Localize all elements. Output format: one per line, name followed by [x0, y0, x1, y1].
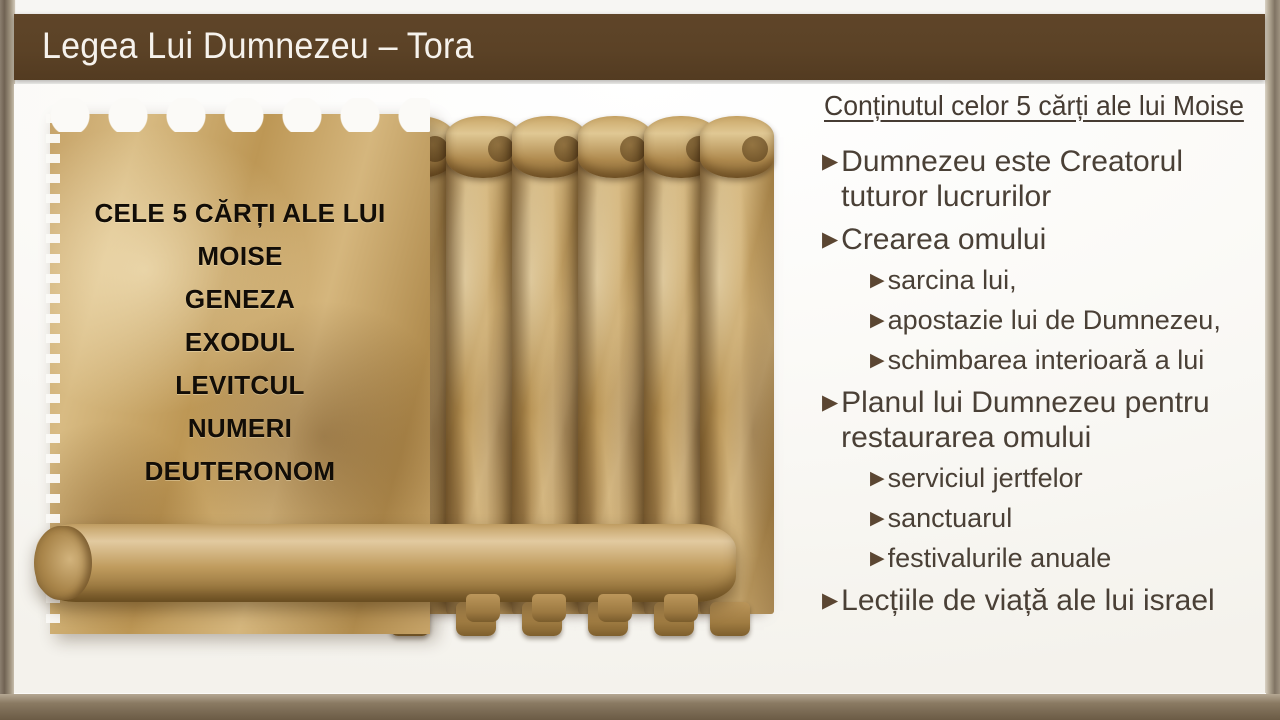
bullet-list: ▶ Dumnezeu este Creatorul tuturor lucrur…: [822, 136, 1264, 620]
bullet-triangle-icon: ▶: [870, 351, 885, 370]
scroll-text-line: LEVITCUL: [50, 364, 430, 407]
scroll-bottom-tab: [598, 594, 632, 622]
list-item: ▶ Crearea omului: [822, 222, 1264, 257]
frame-bottom-edge: [0, 694, 1280, 720]
list-item-label: Planul lui Dumnezeu pentru restaurarea o…: [838, 385, 1264, 455]
scroll-text-line: EXODUL: [50, 321, 430, 364]
bullet-triangle-icon: ▶: [870, 311, 885, 330]
list-item: ▶ Planul lui Dumnezeu pentru restaurarea…: [822, 385, 1264, 455]
scroll-bottom-tab: [532, 594, 566, 622]
bullet-triangle-icon: ▶: [870, 271, 885, 290]
list-item-label: serviciul jertfelor: [885, 462, 1264, 495]
scroll-text-line: DEUTERONOM: [50, 450, 430, 493]
scroll-text-line: GENEZA: [50, 278, 430, 321]
list-item-label: Lecțiile de viață ale lui israel: [838, 583, 1264, 618]
scroll-roll-top-cap: [446, 116, 520, 178]
slide-content-area: CELE 5 CĂRȚI ALE LUI MOISE GENEZA EXODUL…: [14, 84, 1265, 696]
scroll-roll-top-cap: [578, 116, 652, 178]
list-item: ▶ schimbarea interioară a lui: [870, 344, 1264, 377]
scroll-text-line: MOISE: [50, 235, 430, 278]
slide-header-bar: Legea Lui Dumnezeu – Tora: [14, 14, 1265, 80]
bullet-triangle-icon: ▶: [822, 151, 838, 172]
list-item: ▶ serviciul jertfelor: [870, 462, 1264, 495]
scroll-roll-top-cap: [700, 116, 774, 178]
list-item-label: Crearea omului: [838, 222, 1264, 257]
bullet-triangle-icon: ▶: [822, 392, 838, 413]
list-item: ▶ sarcina lui,: [870, 264, 1264, 297]
list-item: ▶ sanctuarul: [870, 502, 1264, 535]
content-list-pane: Conținutul celor 5 cărți ale lui Moise ▶…: [810, 84, 1265, 696]
scroll-bottom-tab: [664, 594, 698, 622]
frame-right-edge: [1265, 0, 1280, 720]
list-item-label: sarcina lui,: [885, 264, 1264, 297]
list-item-label: schimbarea interioară a lui: [885, 344, 1264, 377]
slide-canvas: Legea Lui Dumnezeu – Tora: [0, 0, 1280, 720]
list-heading: Conținutul celor 5 cărți ale lui Moise: [824, 90, 1244, 122]
page-title: Legea Lui Dumnezeu – Tora: [42, 25, 474, 67]
bullet-triangle-icon: ▶: [870, 549, 885, 568]
list-item: ▶ Lecțiile de viață ale lui israel: [822, 583, 1264, 618]
scroll-text-line: NUMERI: [50, 407, 430, 450]
bullet-triangle-icon: ▶: [822, 590, 838, 611]
scroll-text-line: CELE 5 CĂRȚI ALE LUI: [50, 192, 430, 235]
scroll-torn-top-edge: [50, 98, 430, 132]
torah-scroll-image: CELE 5 CĂRȚI ALE LUI MOISE GENEZA EXODUL…: [50, 106, 770, 666]
bullet-triangle-icon: ▶: [870, 469, 885, 488]
list-item-label: sanctuarul: [885, 502, 1264, 535]
scroll-roll-bottom-tab: [710, 602, 750, 636]
list-item: ▶ Dumnezeu este Creatorul tuturor lucrur…: [822, 144, 1264, 214]
scroll-roll-top-cap: [512, 116, 586, 178]
list-item-label: Dumnezeu este Creatorul tuturor lucruril…: [838, 144, 1264, 214]
bullet-triangle-icon: ▶: [870, 509, 885, 528]
scroll-text-block: CELE 5 CĂRȚI ALE LUI MOISE GENEZA EXODUL…: [50, 192, 430, 493]
list-item-label: festivalurile anuale: [885, 542, 1264, 575]
list-item: ▶ apostazie lui de Dumnezeu,: [870, 304, 1264, 337]
scroll-bottom-tab: [466, 594, 500, 622]
list-item-label: apostazie lui de Dumnezeu,: [885, 304, 1264, 337]
scroll-bottom-roll: [36, 524, 736, 602]
list-item: ▶ festivalurile anuale: [870, 542, 1264, 575]
frame-left-edge: [0, 0, 15, 720]
bullet-triangle-icon: ▶: [822, 229, 838, 250]
scroll-roll-knob: [34, 526, 92, 600]
